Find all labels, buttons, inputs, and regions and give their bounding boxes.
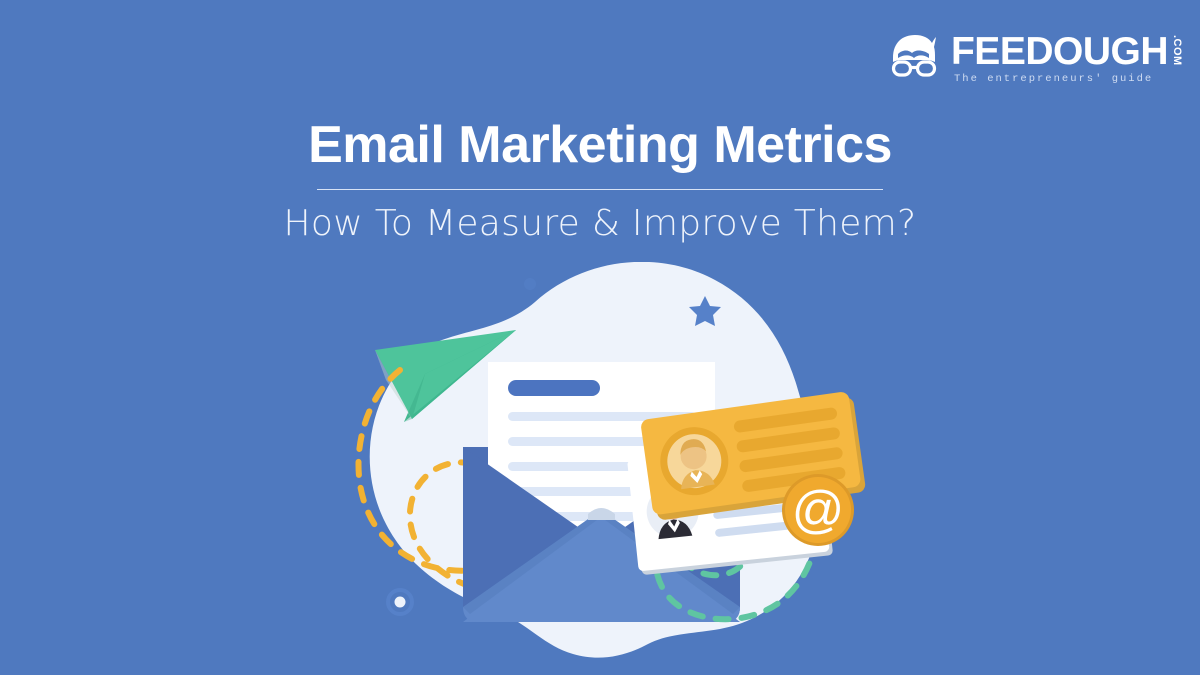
brand-logo[interactable]: FEEDOUGH .COM The entrepreneurs' guide (885, 32, 1182, 85)
ring-decoration (388, 590, 412, 614)
brand-tagline: The entrepreneurs' guide (954, 74, 1153, 85)
page-title: Email Marketing Metrics (0, 118, 1200, 173)
dot-decoration (524, 278, 536, 290)
svg-text:@: @ (792, 481, 845, 539)
face-with-glasses-icon (885, 32, 943, 85)
page-subtitle: How To Measure & Improve Them? (0, 203, 1200, 244)
hero-heading-group: Email Marketing Metrics How To Measure &… (0, 118, 1200, 244)
title-divider (317, 189, 883, 190)
email-marketing-illustration: @ (330, 262, 870, 667)
brand-wordmark: FEEDOUGH .COM The entrepreneurs' guide (951, 33, 1182, 85)
poster-canvas: FEEDOUGH .COM The entrepreneurs' guide E… (0, 0, 1200, 675)
brand-name: FEEDOUGH (951, 33, 1168, 70)
at-badge-icon: @ (782, 474, 854, 546)
brand-tld: .COM (1171, 35, 1182, 66)
